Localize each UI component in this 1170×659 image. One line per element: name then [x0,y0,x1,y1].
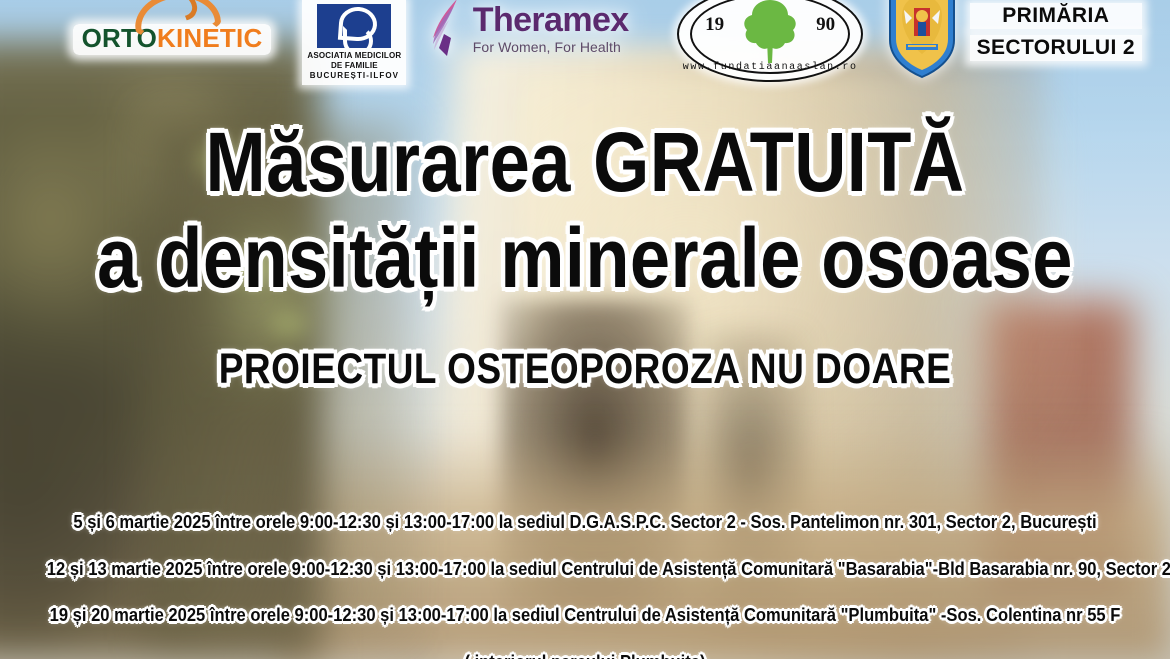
date-line-2: 12 și 13 martie 2025 între orele 9:00-12… [47,559,1123,580]
amf-line-3: BUCUREȘTI-ILFOV [302,71,406,81]
logo-asociatia-medicilor-de-familie: ASOCIATIA MEDICILOR DE FAMILIE BUCUREȘTI… [302,0,406,85]
aslan-website-url: www.fundatiaanaaslan.ro [677,62,863,73]
poster-root: ORTOKINETIC ASOCIATIA MEDICILOR DE FAMIL… [0,0,1170,659]
headline-line-2: a densității minerale osoase [82,216,1088,302]
logo-primaria-sectorului-2: PRIMĂRIA SECTORULUI 2 [884,0,1142,80]
theramex-tagline: For Women, For Health [473,39,629,55]
theramex-wordmark: Theramex For Women, For Health [473,3,629,55]
ortokinetic-swoosh-icon [128,0,216,30]
amf-line-1: ASOCIATIA MEDICILOR [302,51,406,61]
primaria-wordmark: PRIMĂRIA SECTORULUI 2 [970,3,1142,60]
primaria-line-1: PRIMĂRIA [970,3,1142,29]
date-line-1: 5 și 6 martie 2025 între orele 9:00-12:3… [47,512,1123,533]
logo-ortokinetic: ORTOKINETIC [62,0,282,55]
amf-line-2: DE FAMILIE [302,61,406,71]
theramex-brand: Theramex [473,3,629,37]
amf-caption: ASOCIATIA MEDICILOR DE FAMILIE BUCUREȘTI… [302,51,406,82]
primaria-line-2: SECTORULUI 2 [970,35,1142,61]
headline-subtitle: PROIECTUL OSTEOPOROZA NU DOARE [82,347,1088,392]
aslan-year-right: 90 [816,14,835,36]
dates-block: 5 și 6 martie 2025 între orele 9:00-12:3… [0,512,1170,659]
date-line-4-note: ( interiorul parcului Plumbuita) [47,652,1123,659]
romanian-coat-of-arms-icon [884,0,960,80]
aslan-tree-icon [739,0,801,69]
headline-word-gratuita: GRATUITĂ [593,115,964,209]
logo-bar: ORTOKINETIC ASOCIATIA MEDICILOR DE FAMIL… [0,0,1170,78]
theramex-flame-icon [427,0,471,60]
logo-fundatia-ana-aslan: FUNDATIA ANA ASLAN 19 90 www.fundatiaana… [677,0,863,82]
aslan-year-left: 19 [705,14,724,36]
headline-block: MăsurareaGRATUITĂ a densității minerale … [0,120,1170,392]
date-line-3: 19 și 20 martie 2025 între orele 9:00-12… [47,605,1123,626]
amf-emblem-icon [317,4,391,48]
logo-theramex: Theramex For Women, For Health [427,0,657,60]
headline-line-1: MăsurareaGRATUITĂ [82,120,1088,206]
headline-word-masurarea: Măsurarea [206,115,571,209]
